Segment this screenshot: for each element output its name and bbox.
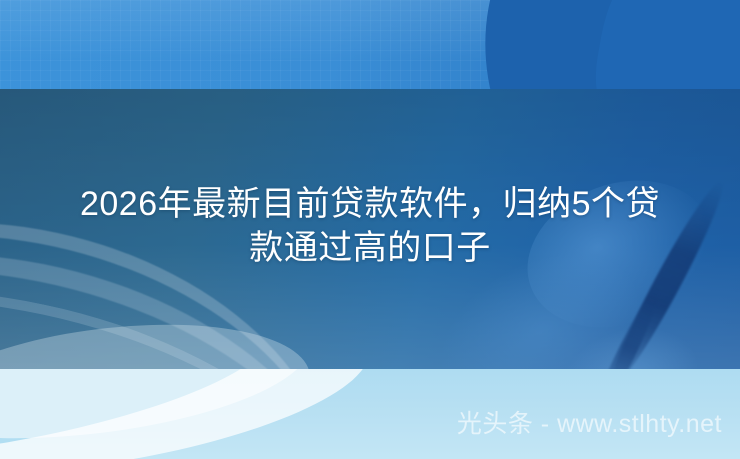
footer-swoosh-2: [0, 369, 277, 459]
site-watermark: 光头条 - www.stlhty.net: [457, 409, 722, 439]
banner-title: 2026年最新目前贷款软件，归纳5个贷 款通过高的口子: [0, 182, 740, 270]
footer-swoosh-3: [0, 369, 318, 459]
promo-banner: 2026年最新目前贷款软件，归纳5个贷 款通过高的口子 光头条 - www.st…: [0, 0, 740, 459]
footer-swoosh-1: [0, 369, 380, 459]
